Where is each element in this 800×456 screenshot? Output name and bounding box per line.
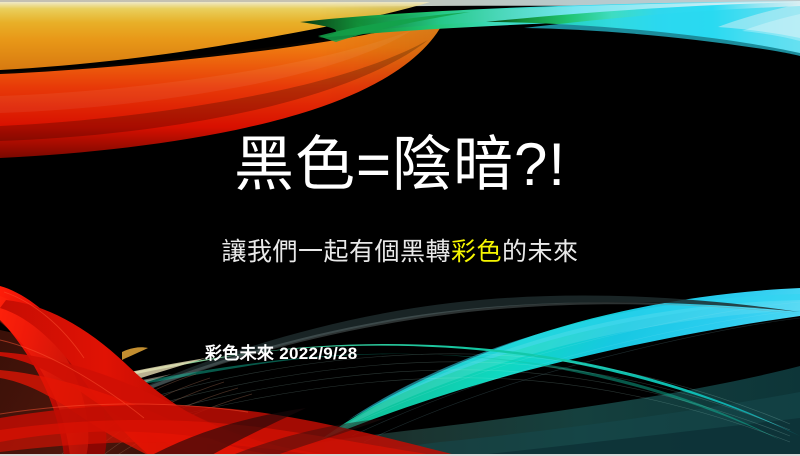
slide-subtitle: 讓我們一起有個黑轉彩色的未來 [0, 236, 800, 268]
slide-text-block: 黑色=陰暗?! 讓我們一起有個黑轉彩色的未來 彩色未來 2022/9/28 [0, 0, 800, 456]
presentation-slide: 黑色=陰暗?! 讓我們一起有個黑轉彩色的未來 彩色未來 2022/9/28 [0, 0, 800, 456]
subtitle-prefix: 讓我們一起有個黑轉 [221, 238, 451, 266]
slide-footer-label: 彩色未來 2022/9/28 [205, 343, 358, 365]
page-title: 黑色=陰暗?! [0, 130, 800, 200]
subtitle-suffix: 的未來 [502, 238, 579, 266]
subtitle-highlight: 彩色 [451, 238, 502, 266]
